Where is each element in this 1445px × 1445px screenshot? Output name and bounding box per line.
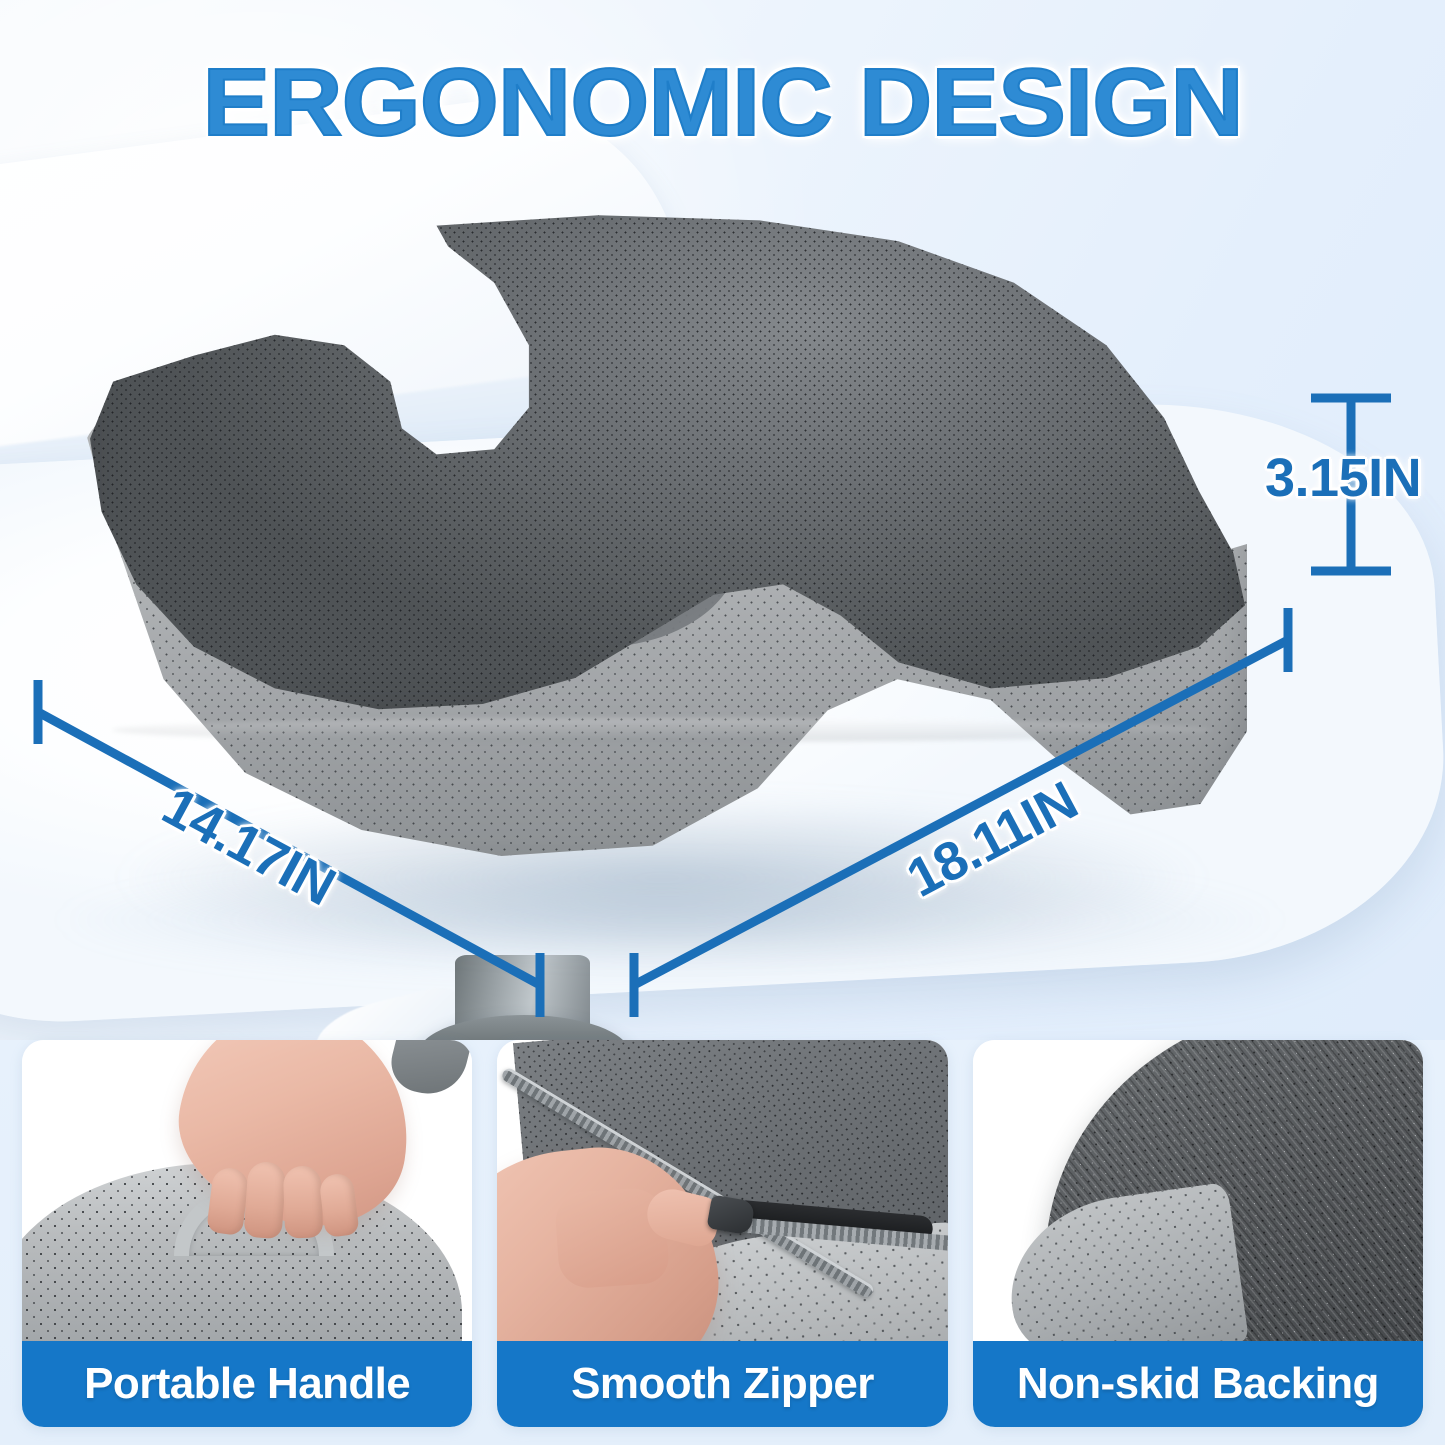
feature-panel-row: Portable Handle Smooth Zipper Non-skid B…: [0, 1040, 1445, 1445]
finger: [283, 1165, 323, 1238]
caption-smooth-zipper: Smooth Zipper: [497, 1341, 947, 1427]
feature-panel-non-skid-backing[interactable]: Non-skid Backing: [973, 1040, 1423, 1427]
feature-panel-portable-handle[interactable]: Portable Handle: [22, 1040, 472, 1427]
page-title: ERGONOMIC DESIGN: [0, 48, 1445, 158]
caption-non-skid-backing: Non-skid Backing: [973, 1341, 1423, 1427]
finger: [243, 1161, 286, 1239]
feature-panel-smooth-zipper[interactable]: Smooth Zipper: [497, 1040, 947, 1427]
cushion-seam: [112, 718, 1212, 742]
caption-portable-handle: Portable Handle: [22, 1341, 472, 1427]
dimension-label-height: 3.15IN: [1265, 447, 1421, 509]
hero-section: 3.15IN 14.17IN 18.11IN ERGONOMIC DESIGN: [0, 0, 1445, 1040]
